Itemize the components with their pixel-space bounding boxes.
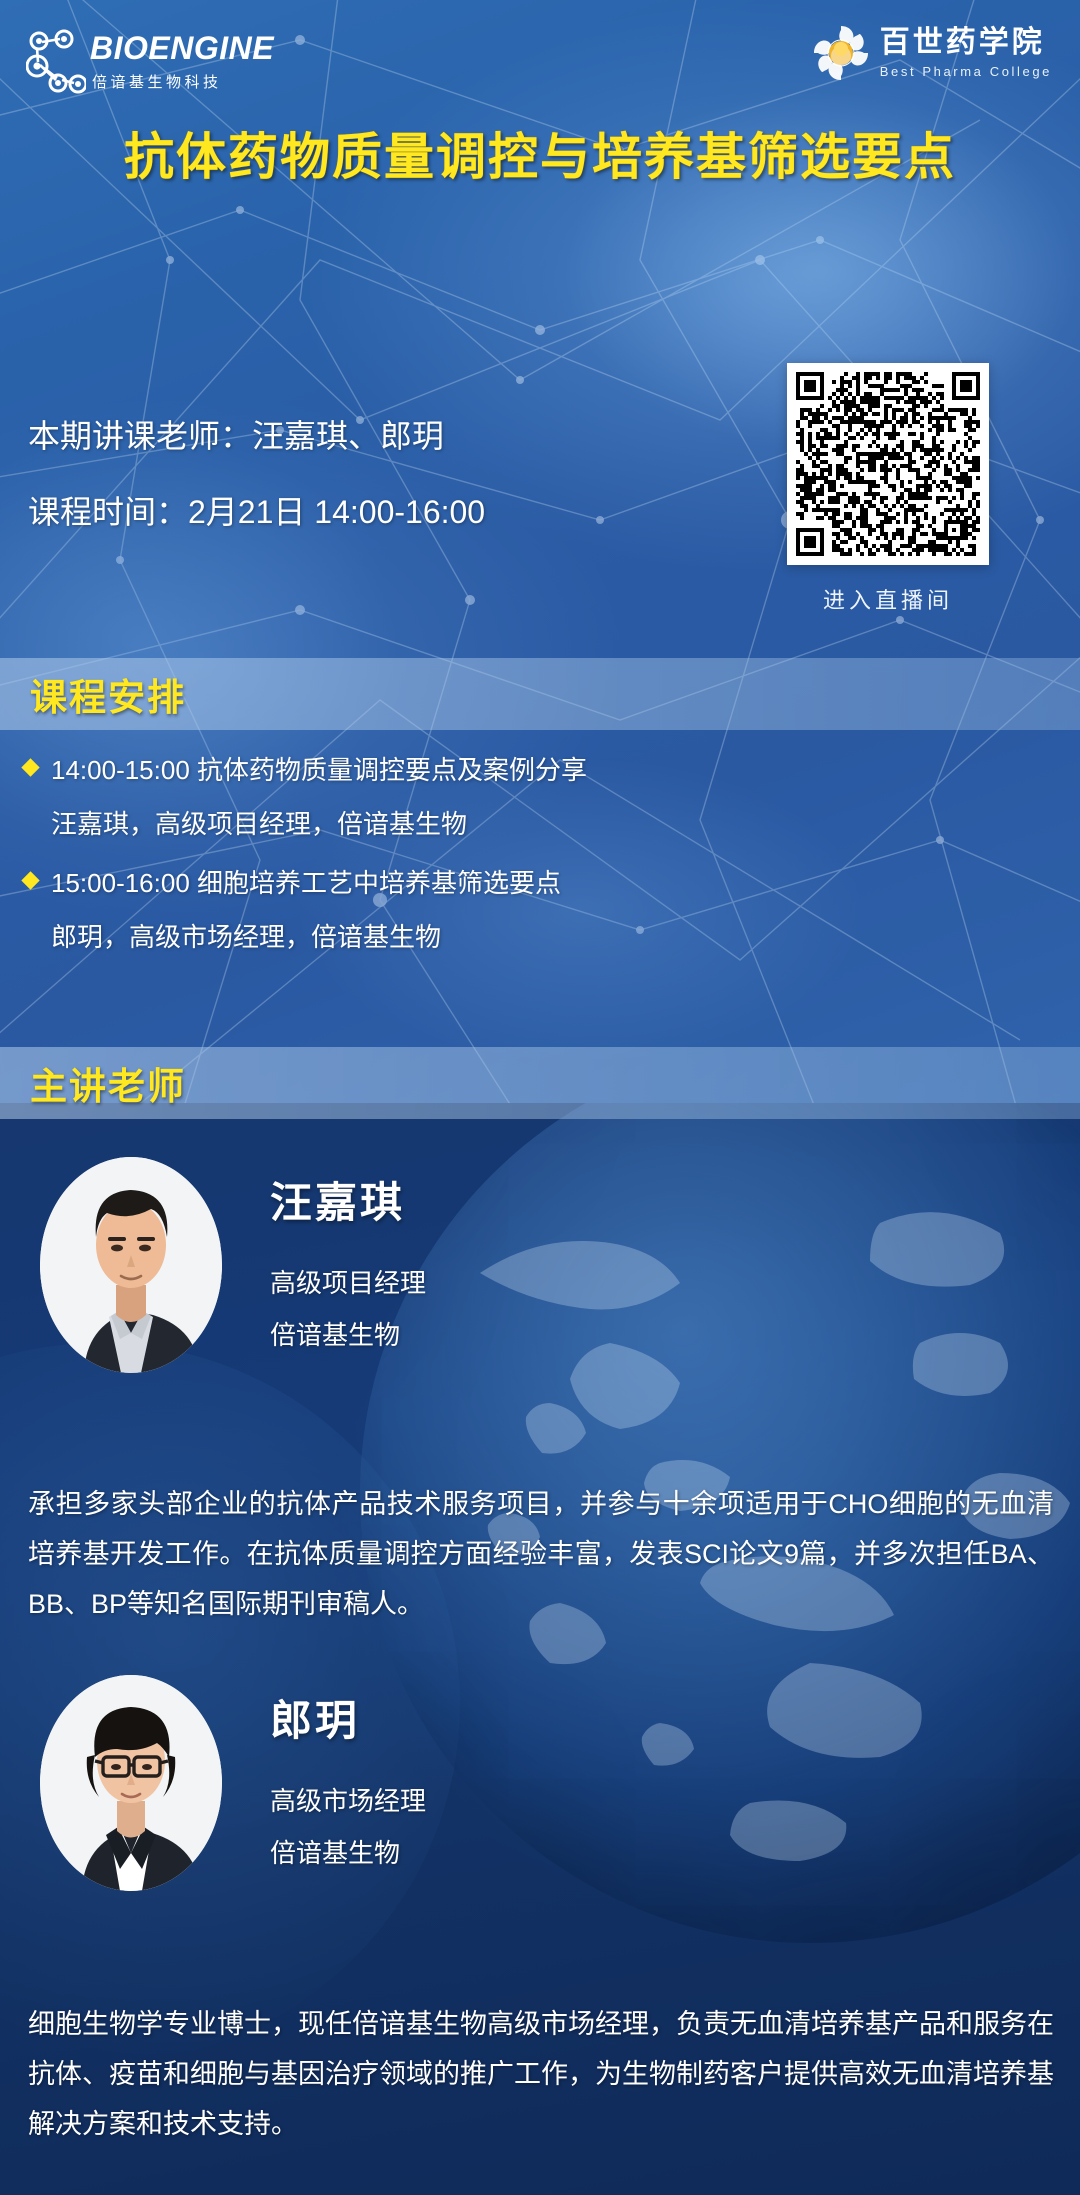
webinar-poster: BIOENGINE 倍谙基生物科技 百世药学院: [0, 0, 1080, 2195]
speaker-meta: 郎玥 高级市场经理 倍谙基生物: [270, 1700, 426, 1866]
speaker-name: 郎玥: [270, 1700, 426, 1742]
speaker-role: 高级市场经理: [270, 1788, 426, 1814]
swirl-logo-icon: [810, 22, 872, 84]
speaker-bio: 承担多家头部企业的抗体产品技术服务项目，并参与十余项适用于CHO细胞的无血清培养…: [28, 1480, 1054, 1630]
qr-code-label: 进入直播间: [787, 583, 989, 615]
section-header-speakers: 主讲老师: [0, 1047, 1080, 1119]
bullet-diamond-icon: [21, 758, 39, 776]
schedule-item: 15:00-16:00 细胞培养工艺中培养基筛选要点 郎玥，高级市场经理，倍谙基…: [0, 865, 1080, 956]
speaker-role: 高级项目经理: [270, 1270, 426, 1296]
teacher-line: 本期讲课老师：汪嘉琪、郎玥: [28, 420, 485, 452]
avatar: [40, 1675, 222, 1891]
page-title: 抗体药物质量调控与培养基筛选要点: [0, 117, 1080, 189]
qr-code-block[interactable]: 进入直播间: [787, 363, 989, 615]
course-info-block: 本期讲课老师：汪嘉琪、郎玥 课程时间：2月21日 14:00-16:00: [28, 420, 485, 528]
best-pharma-college-logo: 百世药学院 Best Pharma College: [810, 22, 1052, 84]
avatar: [40, 1157, 222, 1373]
qr-code-icon[interactable]: [796, 372, 980, 556]
speaker-name: 汪嘉琪: [270, 1182, 426, 1224]
molecule-icon: [26, 28, 86, 94]
schedule-item-topic: 14:00-15:00 抗体药物质量调控要点及案例分享: [51, 752, 587, 790]
female-portrait-avatar: [40, 1675, 222, 1891]
speaker-card: 郎玥 高级市场经理 倍谙基生物: [0, 1675, 1080, 1891]
male-portrait-avatar: [40, 1157, 222, 1373]
bioengine-logo: BIOENGINE 倍谙基生物科技: [26, 28, 274, 94]
speaker-meta: 汪嘉琪 高级项目经理 倍谙基生物: [270, 1182, 426, 1348]
bpc-english-name: Best Pharma College: [880, 64, 1052, 79]
schedule-list: 14:00-15:00 抗体药物质量调控要点及案例分享 汪嘉琪，高级项目经理，倍…: [0, 752, 1080, 965]
poster-header: BIOENGINE 倍谙基生物科技 百世药学院: [0, 0, 1080, 110]
speaker-bio: 细胞生物学专业博士，现任倍谙基生物高级市场经理，负责无血清培养基产品和服务在抗体…: [28, 2000, 1054, 2150]
schedule-item: 14:00-15:00 抗体药物质量调控要点及案例分享 汪嘉琪，高级项目经理，倍…: [0, 752, 1080, 843]
time-line: 课程时间：2月21日 14:00-16:00: [28, 496, 485, 528]
section-title-schedule: 课程安排: [30, 667, 186, 721]
section-title-speakers: 主讲老师: [30, 1056, 186, 1110]
speaker-org: 倍谙基生物: [270, 1322, 426, 1348]
qr-code-frame[interactable]: [787, 363, 989, 565]
bullet-diamond-icon: [21, 872, 39, 890]
schedule-item-presenter: 郎玥，高级市场经理，倍谙基生物: [51, 919, 1080, 957]
section-header-schedule: 课程安排: [0, 658, 1080, 730]
bioengine-wordmark: BIOENGINE: [90, 32, 274, 64]
schedule-item-topic: 15:00-16:00 细胞培养工艺中培养基筛选要点: [51, 865, 561, 903]
bioengine-chinese-name: 倍谙基生物科技: [90, 71, 274, 92]
speaker-org: 倍谙基生物: [270, 1840, 426, 1866]
schedule-item-presenter: 汪嘉琪，高级项目经理，倍谙基生物: [51, 806, 1080, 844]
bpc-chinese-name: 百世药学院: [880, 28, 1052, 58]
speaker-card: 汪嘉琪 高级项目经理 倍谙基生物: [0, 1157, 1080, 1373]
